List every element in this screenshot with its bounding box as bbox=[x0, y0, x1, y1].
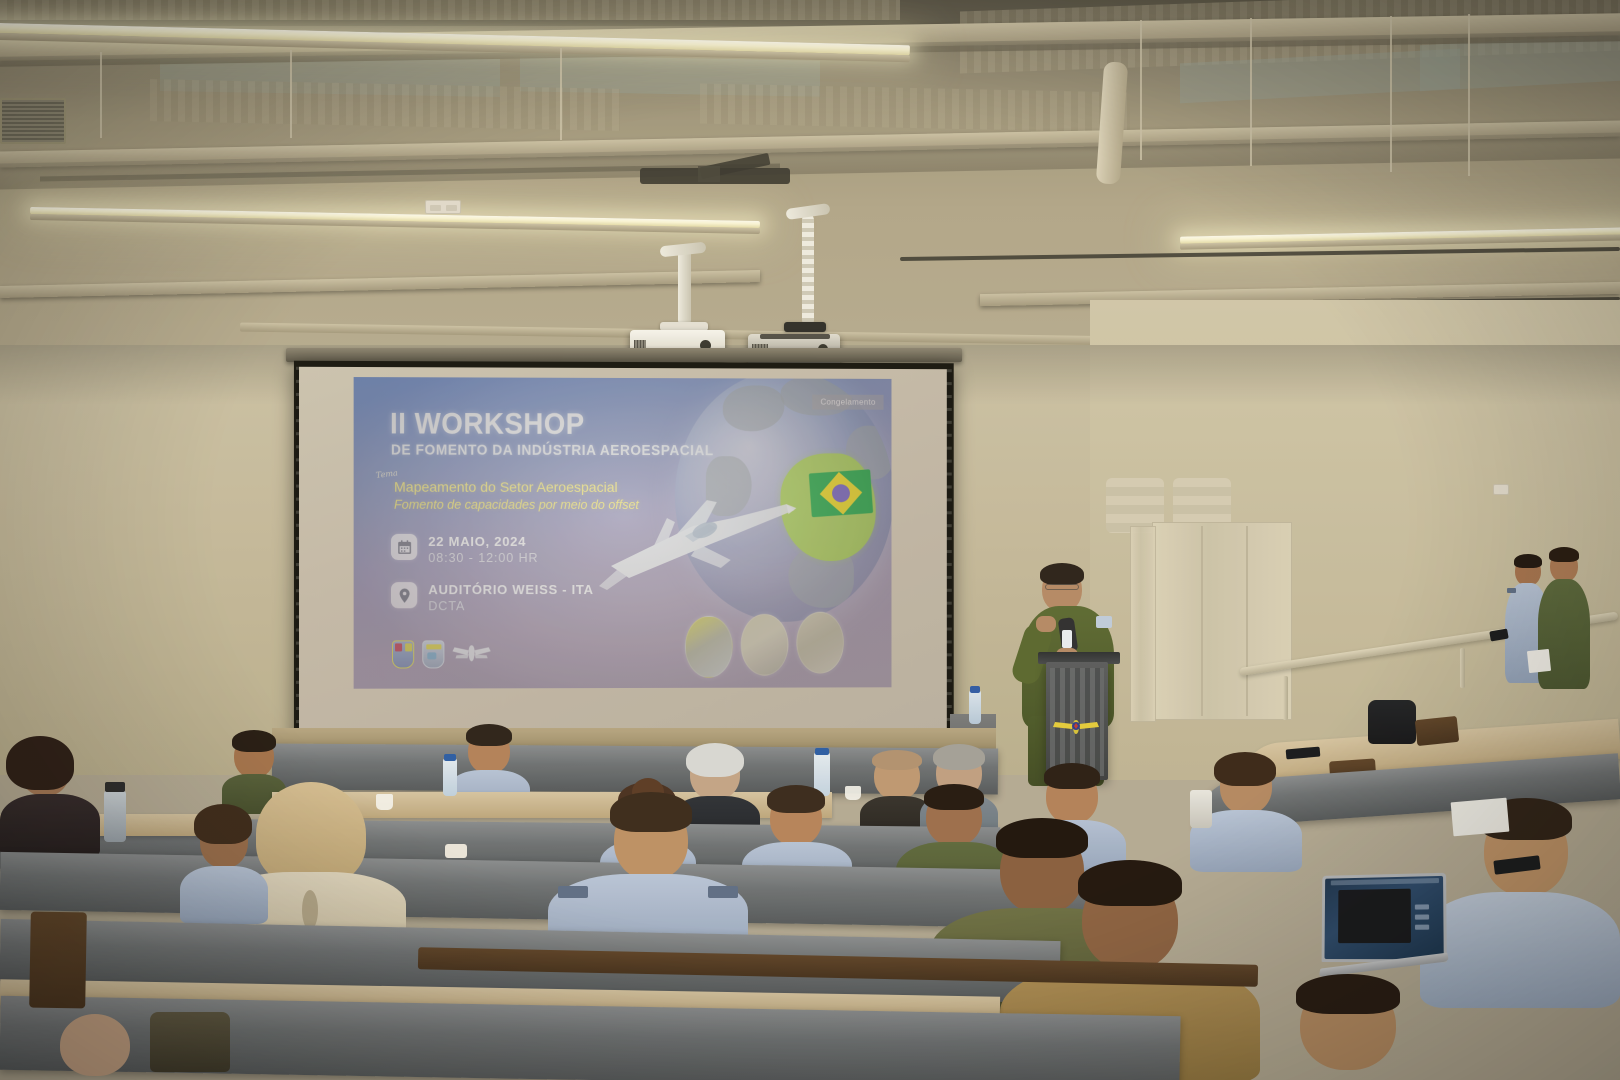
slide-title: II WORKSHOP bbox=[390, 407, 585, 442]
laptop-dialog-window[interactable] bbox=[1338, 889, 1411, 944]
folding-partition-wall bbox=[1152, 522, 1292, 720]
handout-paper bbox=[1527, 649, 1551, 673]
backpack bbox=[1368, 700, 1416, 744]
fighter-jet-graphic bbox=[581, 474, 812, 604]
attendee-front-partial bbox=[40, 1014, 160, 1080]
lecture-hall-scene: Congelamento II WORKSHOP DE FOMENTO DA I… bbox=[0, 0, 1620, 1080]
screen-housing bbox=[286, 348, 962, 362]
cup-tall bbox=[1190, 790, 1212, 828]
thermos-bottle bbox=[104, 790, 126, 842]
slide-time: 08:30 - 12:00 HR bbox=[428, 550, 538, 566]
slide-venue-sub: DCTA bbox=[428, 598, 593, 614]
location-pin-icon bbox=[391, 582, 417, 608]
projected-slide: Congelamento II WORKSHOP DE FOMENTO DA I… bbox=[354, 377, 892, 689]
ita-wings-emblem bbox=[1053, 716, 1099, 738]
light-switch-plate[interactable] bbox=[1493, 484, 1509, 495]
slide-date: 22 MAIO, 2024 bbox=[428, 534, 538, 550]
chair-front-1 bbox=[29, 912, 87, 1009]
projector-arm-right bbox=[802, 214, 814, 326]
attendee-laptop-user bbox=[1420, 806, 1620, 1006]
frozen-badge: Congelamento bbox=[813, 395, 884, 410]
ita-crest-logo bbox=[392, 640, 414, 668]
macbook-laptop[interactable] bbox=[1322, 873, 1447, 963]
tema-label: Tema bbox=[375, 468, 398, 480]
calendar-icon bbox=[391, 534, 417, 560]
slide-theme: Mapeamento do Setor Aeroespacial bbox=[394, 479, 618, 495]
globe-graphic bbox=[675, 377, 892, 622]
attendee-bun-hair-front bbox=[180, 800, 268, 920]
notebook bbox=[1451, 798, 1510, 837]
hvac-air-vent bbox=[0, 98, 66, 144]
forca-aerea-wings-logo bbox=[452, 641, 490, 667]
slide-theme-sub: Fomento de capacidades por meio do offse… bbox=[394, 498, 639, 512]
partition-panel-side bbox=[1130, 526, 1156, 722]
aircraft-assembly-photo-2 bbox=[741, 614, 789, 676]
laptop-screen[interactable] bbox=[1324, 876, 1443, 959]
water-bottle bbox=[443, 758, 457, 796]
slide-subtitle: DE FOMENTO DA INDÚSTRIA AEROESPACIAL bbox=[391, 442, 714, 459]
projector-arm-left bbox=[678, 248, 691, 326]
hangar-photo-3 bbox=[796, 612, 844, 674]
floral-thermos-bottle bbox=[443, 856, 469, 936]
dcta-crest-logo bbox=[422, 640, 444, 668]
chair bbox=[1415, 716, 1459, 746]
bag-front bbox=[150, 1012, 230, 1072]
attendee-civilian-left bbox=[0, 742, 100, 852]
projection-screen: Congelamento II WORKSHOP DE FOMENTO DA I… bbox=[294, 361, 954, 749]
manufacturing-photo-1 bbox=[685, 616, 733, 678]
water-bottle bbox=[969, 690, 981, 724]
brazil-flag-icon bbox=[809, 469, 873, 517]
brazil-map-shape bbox=[780, 453, 875, 561]
attendee-front-right bbox=[1240, 980, 1460, 1080]
slide-venue: AUDITÓRIO WEISS - ITA bbox=[428, 582, 593, 598]
